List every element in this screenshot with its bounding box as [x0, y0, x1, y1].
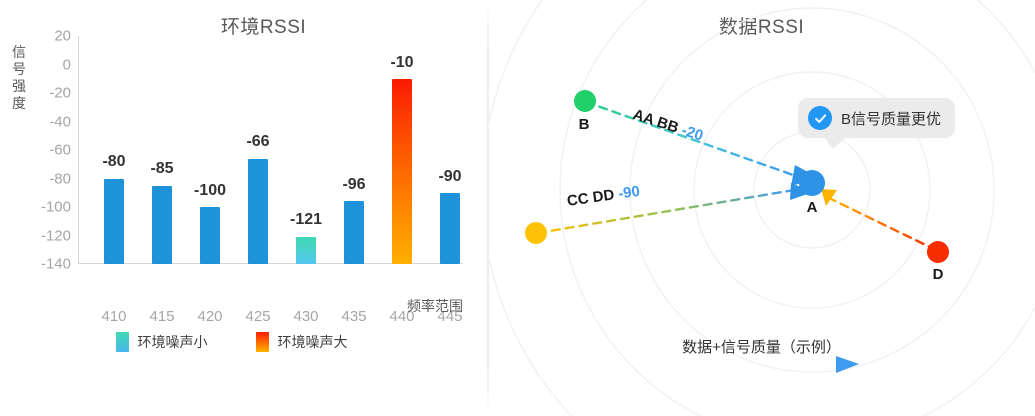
bar-410[interactable] — [104, 179, 124, 265]
x-axis-label: 频率范围 — [0, 296, 463, 316]
bar-420[interactable] — [200, 207, 220, 264]
arrow-d-to-a — [821, 189, 837, 206]
y-tick-m40: -40 — [49, 113, 71, 130]
bar-445[interactable] — [440, 193, 460, 264]
y-tick-20: 20 — [54, 28, 71, 45]
y-tick-m80: -80 — [49, 170, 71, 187]
legend-item-low-noise[interactable]: 环境噪声小 — [116, 332, 208, 352]
node-a — [799, 170, 825, 196]
y-tick-m120: -120 — [41, 227, 71, 244]
edge-label-cc-dd-value: -90 — [617, 183, 641, 203]
bar-435[interactable] — [344, 201, 364, 264]
node-d — [927, 241, 949, 263]
right-legend-caption: 数据+信号质量（示例） — [488, 336, 1035, 357]
y-tick-m20: -20 — [49, 85, 71, 102]
node-label-a: A — [807, 199, 818, 216]
y-tick-m100: -100 — [41, 199, 71, 216]
tooltip-text: B信号质量更优 — [841, 108, 941, 129]
legend-item-high-noise[interactable]: 环境噪声大 — [256, 332, 348, 352]
bar-value-415: -85 — [150, 160, 173, 178]
legend-swatch-low-noise — [116, 332, 129, 352]
bar-value-425: -66 — [246, 133, 269, 151]
y-axis-line — [78, 36, 79, 264]
bar-425[interactable] — [248, 159, 268, 265]
environment-rssi-panel: 环境RSSI 信号强度 20 0 -20 -40 -60 -80 -100 -1… — [0, 0, 487, 416]
left-chart-title: 环境RSSI — [0, 12, 487, 39]
quality-tooltip[interactable]: B信号质量更优 — [798, 98, 955, 138]
legend-label-low-noise: 环境噪声小 — [138, 332, 208, 352]
bar-value-420: -100 — [194, 182, 226, 200]
node-label-b: B — [579, 116, 590, 133]
bar-value-435: -96 — [342, 176, 365, 194]
bar-430[interactable] — [296, 237, 316, 264]
legend-swatch-high-noise — [256, 332, 269, 352]
bar-value-410: -80 — [102, 153, 125, 171]
check-circle-icon — [808, 106, 832, 130]
y-axis-label: 信号强度 — [8, 44, 30, 112]
bar-value-430: -121 — [290, 211, 322, 229]
data-rssi-panel: 数据RSSI — [488, 0, 1035, 416]
left-chart-legend: 环境噪声小 环境噪声大 — [0, 332, 463, 352]
bar-value-440: -10 — [390, 54, 413, 72]
node-c — [525, 222, 547, 244]
legend-arrow-head — [836, 356, 859, 373]
bar-440[interactable] — [392, 79, 412, 264]
bar-chart-plot-area: 20 0 -20 -40 -60 -80 -100 -120 -140 -80 … — [78, 36, 463, 264]
y-tick-m140: -140 — [41, 256, 71, 273]
edge-d-to-a — [829, 198, 936, 250]
y-tick-0: 0 — [63, 56, 71, 73]
y-tick-m60: -60 — [49, 142, 71, 159]
bar-value-445: -90 — [438, 168, 461, 186]
node-b — [574, 90, 596, 112]
legend-label-high-noise: 环境噪声大 — [278, 332, 348, 352]
node-label-d: D — [933, 266, 944, 283]
infographic-root: 环境RSSI 信号强度 20 0 -20 -40 -60 -80 -100 -1… — [0, 0, 1035, 416]
bar-415[interactable] — [152, 186, 172, 264]
